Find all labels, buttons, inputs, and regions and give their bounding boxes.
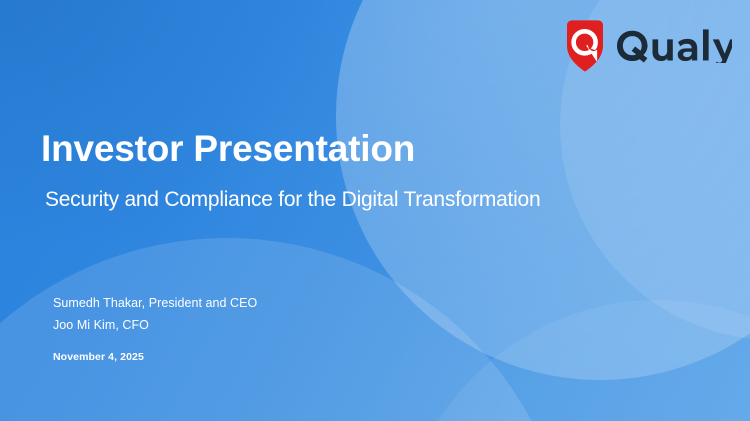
presenter-list: Sumedh Thakar, President and CEO Joo Mi … [53,293,257,336]
qualys-logo [563,20,732,72]
presentation-date: November 4, 2025 [53,351,144,363]
qualys-wordmark [616,29,732,63]
qualys-shield-icon [563,20,607,72]
list-item: Joo Mi Kim, CFO [53,315,257,337]
slide-subtitle: Security and Compliance for the Digital … [45,187,540,212]
list-item: Sumedh Thakar, President and CEO [53,293,257,315]
title-slide: Investor Presentation Security and Compl… [0,0,750,421]
slide-title: Investor Presentation [41,129,415,169]
